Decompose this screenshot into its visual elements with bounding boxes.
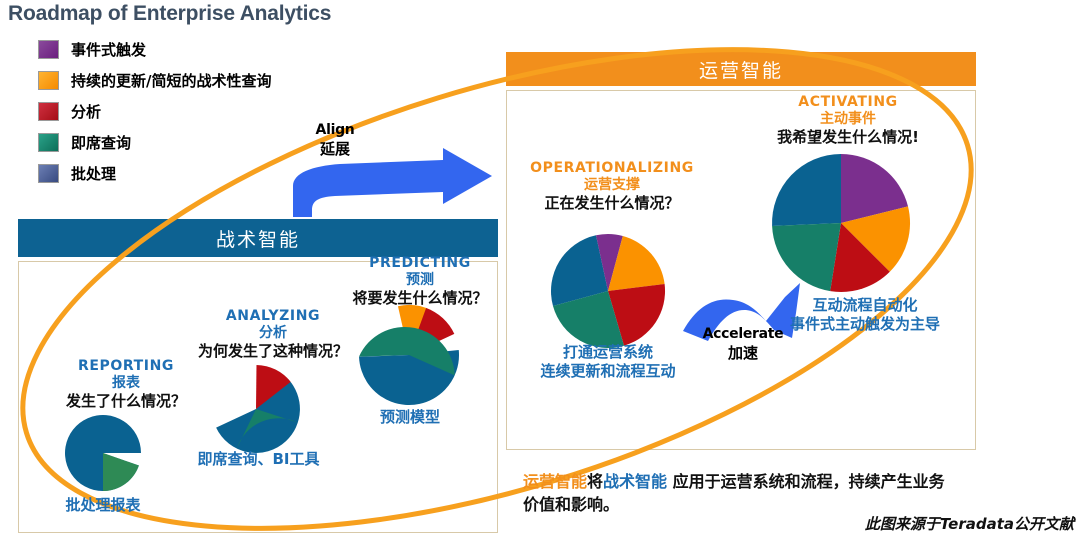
page-title: Roadmap of Enterprise Analytics	[8, 2, 331, 26]
stage-analyzing-labels: ANALYZING 分析 为何发生了这种情况？	[178, 308, 368, 362]
stage-operationalizing-labels: OPERATIONALIZING 运营支撑 正在发生什么情况？	[512, 160, 712, 214]
accelerate-arrow-en: Accelerate	[683, 326, 803, 342]
pie-caption-predicting: 预测模型	[325, 408, 495, 427]
legend-item-label: 持续的更新/简短的战术性查询	[71, 70, 271, 91]
stage-analyzing-question: 为何发生了这种情况？	[178, 342, 368, 362]
legend-item-label: 事件式触发	[71, 39, 146, 60]
slide-canvas: Roadmap of Enterprise Analytics 事件式触发 持续…	[0, 0, 1080, 543]
stage-operationalizing-en: OPERATIONALIZING	[512, 160, 712, 176]
legend-item: 事件式触发	[38, 34, 271, 65]
stage-predicting-en: PREDICTING	[330, 255, 510, 271]
align-arrow-label: Align 延展	[290, 122, 380, 159]
stage-predicting-cn: 预测	[330, 271, 510, 289]
accelerate-arrow-label: Accelerate 加速	[683, 326, 803, 363]
stage-activating-labels: ACTIVATING 主动事件 我希望发生什么情况!	[728, 94, 968, 148]
footnote-seg-tactical: 战术智能	[603, 472, 667, 491]
stage-activating-en: ACTIVATING	[728, 94, 968, 110]
stage-analyzing-cn: 分析	[178, 324, 368, 342]
pie-caption-activating-line1: 互动流程自动化	[740, 296, 990, 315]
stage-operationalizing-question: 正在发生什么情况？	[512, 194, 712, 214]
pie-caption-analyzing-text: 即席查询、BI工具	[197, 450, 319, 468]
pie-caption-operationalizing-line1: 打通运营系统	[508, 343, 708, 362]
legend-swatch-icon	[38, 102, 59, 121]
legend-item-label: 即席查询	[71, 132, 131, 153]
pie-caption-operationalizing-line2: 连续更新和流程互动	[508, 362, 708, 381]
pie-caption-operationalizing: 打通运营系统 连续更新和流程互动	[508, 343, 708, 381]
panel-tactical-title: 战术智能	[18, 219, 498, 257]
footnote-seg-operational: 运营智能	[523, 472, 587, 491]
legend-swatch-icon	[38, 164, 59, 183]
accelerate-arrow-cn: 加速	[683, 342, 803, 363]
stage-analyzing-en: ANALYZING	[178, 308, 368, 324]
align-arrow-cn: 延展	[290, 138, 380, 159]
align-arrow-en: Align	[290, 122, 380, 138]
stage-reporting-question: 发生了什么情况？	[36, 392, 216, 412]
panel-operational-title: 运营智能	[506, 52, 976, 86]
legend-item: 批处理	[38, 158, 271, 189]
footnote-seg-connector: 将	[587, 472, 603, 491]
legend: 事件式触发 持续的更新/简短的战术性查询 分析 即席查询 批处理	[38, 34, 271, 189]
legend-item: 持续的更新/简短的战术性查询	[38, 65, 271, 96]
legend-swatch-icon	[38, 133, 59, 152]
attribution: 此图来源于Teradata公开文献	[865, 513, 1074, 534]
stage-predicting-question: 将要发生什么情况？	[330, 289, 510, 309]
legend-swatch-icon	[38, 71, 59, 90]
legend-item: 分析	[38, 96, 271, 127]
stage-reporting-cn: 报表	[36, 374, 216, 392]
legend-swatch-icon	[38, 40, 59, 59]
legend-item: 即席查询	[38, 127, 271, 158]
stage-activating-cn: 主动事件	[728, 110, 968, 128]
legend-item-label: 分析	[71, 101, 101, 122]
legend-item-label: 批处理	[71, 163, 116, 184]
footnote: 运营智能将战术智能 应用于运营系统和流程，持续产生业务价值和影响。	[523, 470, 953, 516]
stage-reporting-labels: REPORTING 报表 发生了什么情况？	[36, 358, 216, 412]
pie-caption-analyzing: 即席查询、BI工具	[166, 450, 351, 469]
pie-caption-reporting: 批处理报表	[23, 496, 183, 515]
stage-predicting-labels: PREDICTING 预测 将要发生什么情况？	[330, 255, 510, 309]
stage-operationalizing-cn: 运营支撑	[512, 176, 712, 194]
stage-activating-question: 我希望发生什么情况!	[728, 128, 968, 148]
